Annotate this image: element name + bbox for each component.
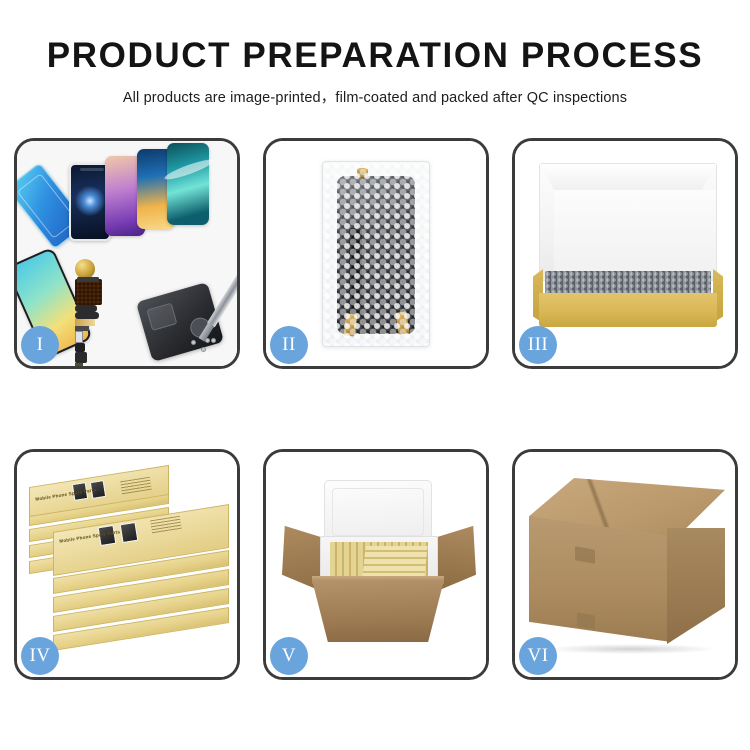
page-header: PRODUCT PREPARATION PROCESS All products… <box>0 0 750 107</box>
step-badge-5: V <box>270 637 308 675</box>
battery-connector-part <box>77 277 99 282</box>
bubble-wrap-bag <box>322 161 430 347</box>
process-step-card-4[interactable]: Mobile Phone Spare Parts Mobile Phone Sp… <box>14 449 240 680</box>
screw-icon <box>191 340 196 345</box>
process-step-grid: I II <box>14 138 738 680</box>
packed-retail-boxes-row-2 <box>362 546 427 578</box>
box-white-lid <box>539 163 717 281</box>
box-foam-sheet <box>554 190 716 276</box>
antenna-part <box>75 363 83 366</box>
flex-cable-part-2 <box>75 312 99 319</box>
screw-icon <box>201 347 206 352</box>
box-yellow-front-panel <box>539 293 717 327</box>
carton-front-face <box>529 516 671 642</box>
process-step-card-3[interactable]: III <box>512 138 738 369</box>
open-inner-box <box>533 163 723 333</box>
carton-tape-patch-lower <box>577 612 595 629</box>
screws-group <box>191 338 221 356</box>
stacked-retail-boxes: Mobile Phone Spare Parts Mobile Phone Sp… <box>27 470 233 658</box>
screw-icon <box>211 338 216 343</box>
page-subtitle: All products are image-printed，film-coat… <box>0 86 750 107</box>
bubble-texture-layer-2 <box>323 162 429 346</box>
screw-icon <box>205 338 210 343</box>
gold-contact-strip <box>75 319 95 326</box>
flex-cable-part-1 <box>75 305 97 312</box>
open-shipping-carton <box>282 472 476 652</box>
logic-board-part <box>75 279 102 305</box>
page-title: PRODUCT PREPARATION PROCESS <box>0 38 750 75</box>
carton-side-face <box>667 528 725 644</box>
process-step-card-5[interactable]: V <box>263 449 489 680</box>
speaker-coil-part <box>75 259 95 279</box>
foam-lid <box>324 480 432 544</box>
carton-body <box>312 580 444 642</box>
step-badge-3: III <box>519 326 557 364</box>
camera-module-part <box>75 343 85 352</box>
carton-ground-shadow <box>547 644 715 654</box>
vibration-motor-part <box>75 352 87 363</box>
step-badge-4: IV <box>21 637 59 675</box>
step-badge-2: II <box>270 326 308 364</box>
sealed-shipping-carton <box>529 478 725 648</box>
process-step-card-6[interactable]: VI <box>512 449 738 680</box>
step-badge-1: I <box>21 326 59 364</box>
process-step-card-1[interactable]: I <box>14 138 240 369</box>
sim-tray-part <box>75 331 83 343</box>
step-badge-6: VI <box>519 637 557 675</box>
phone-teal-gradient <box>167 143 209 225</box>
process-step-card-2[interactable]: II <box>263 138 489 369</box>
box-window-thumbnail <box>120 522 139 543</box>
